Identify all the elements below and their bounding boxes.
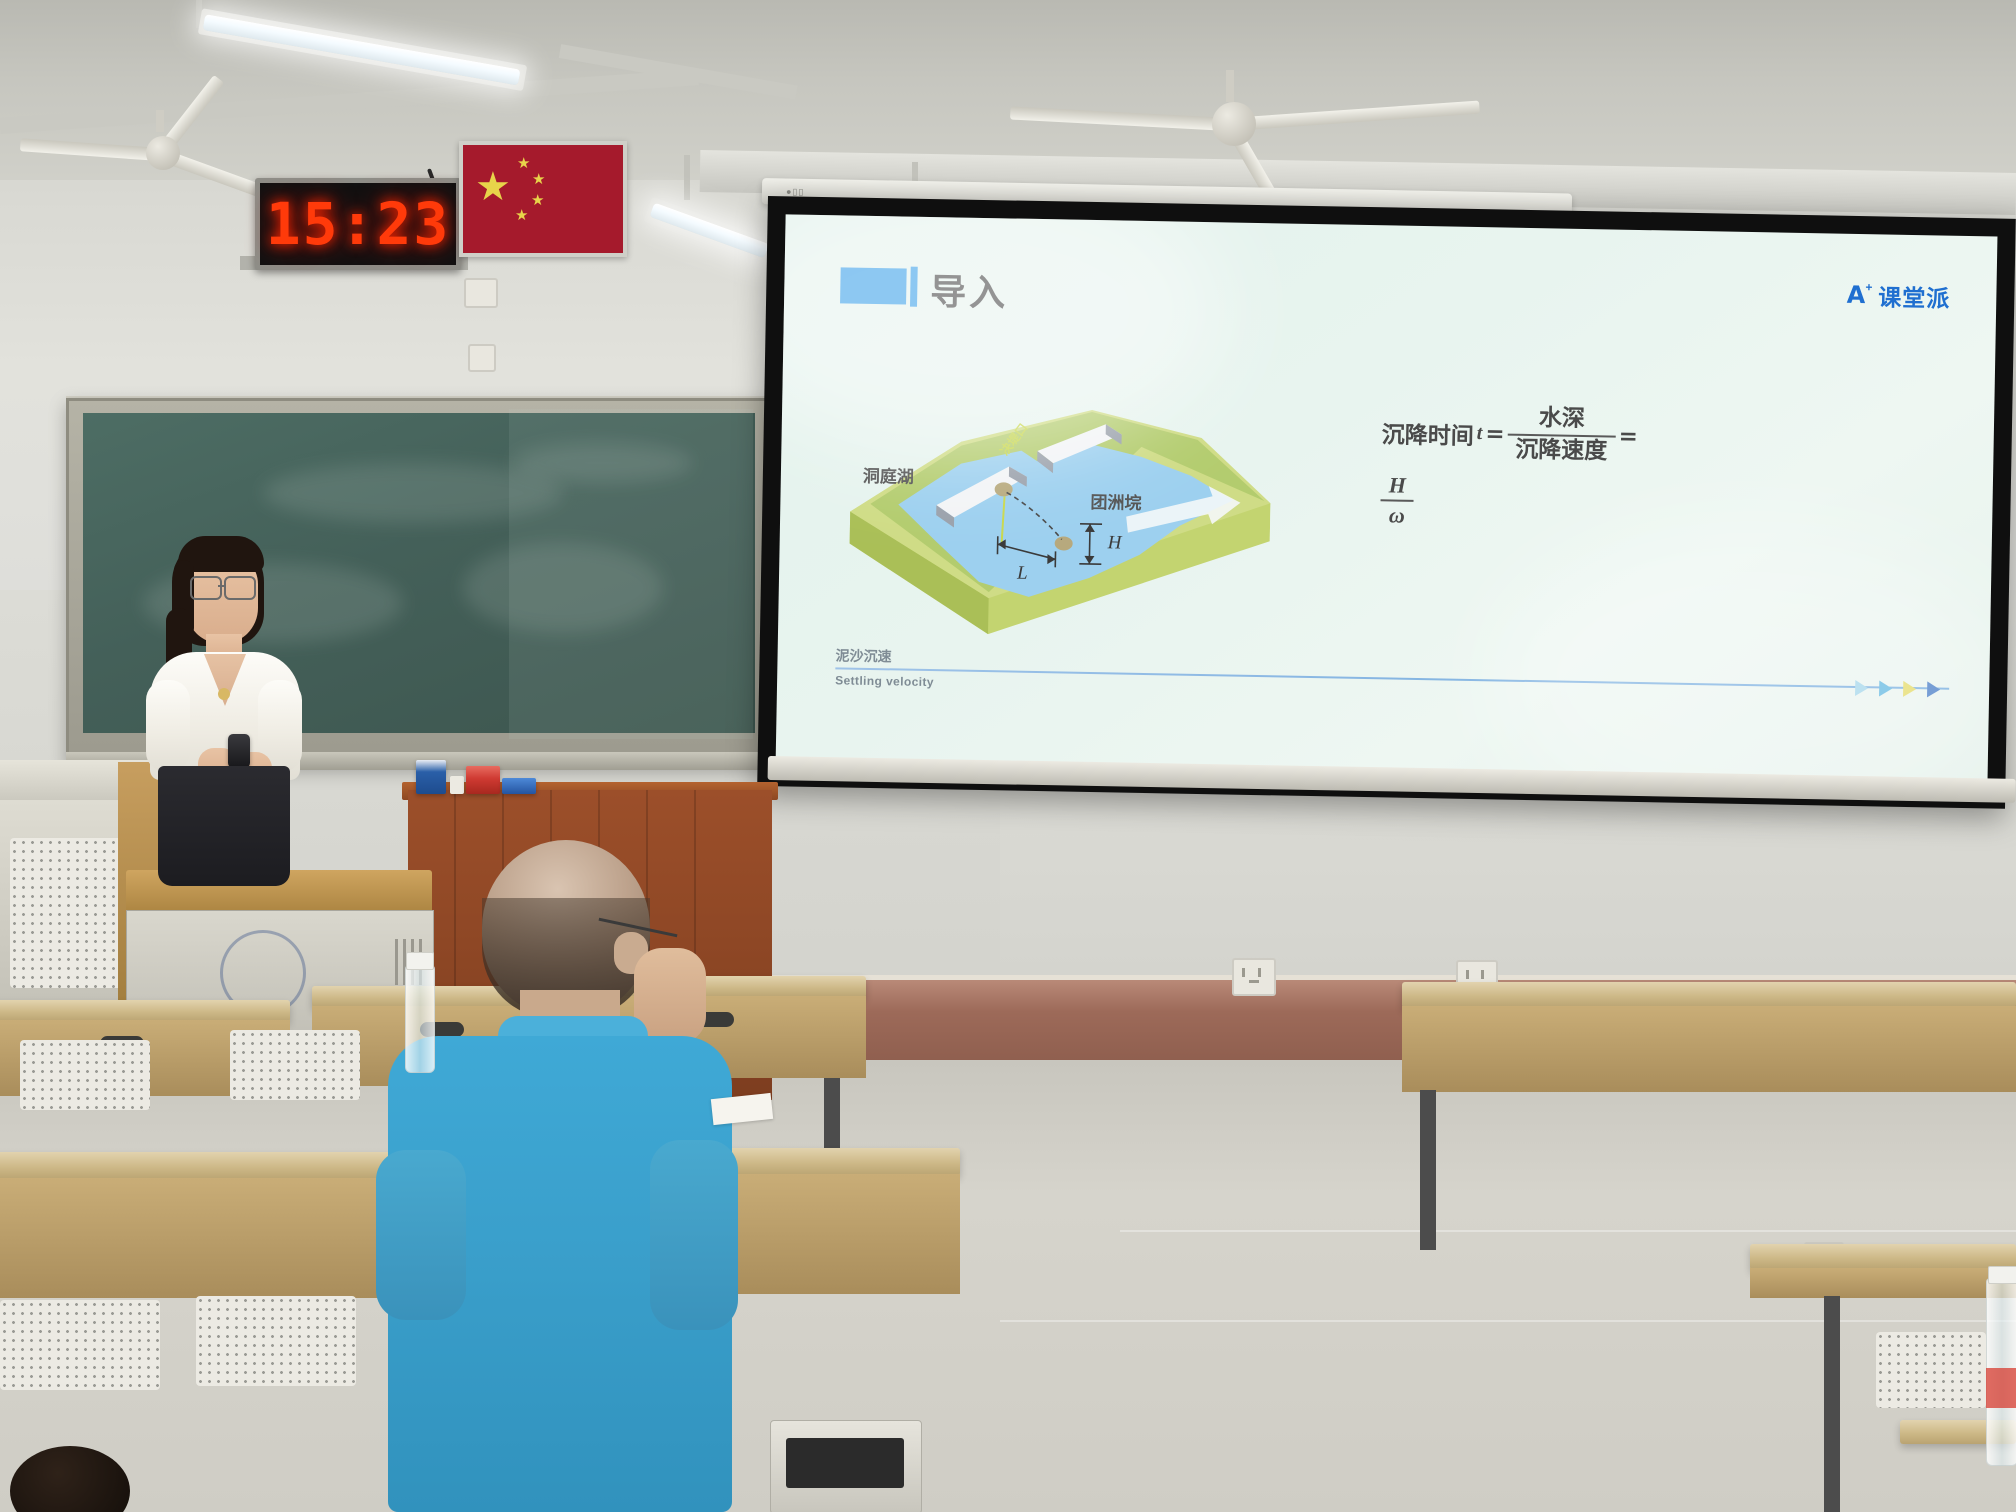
footer-chevron-2 <box>1879 680 1892 696</box>
slide-title-accent-bar <box>910 267 918 307</box>
desk-front-panel <box>1402 1006 2016 1092</box>
light-hanger <box>684 155 690 200</box>
bottle-cap[interactable] <box>1988 1266 2016 1284</box>
seated-attendee <box>370 840 730 1512</box>
fan-rod <box>1226 70 1234 102</box>
formula-fraction-symbols: H ω <box>1380 473 1414 529</box>
floor-tile-line <box>1120 1230 2016 1232</box>
presenter-remote[interactable] <box>228 734 250 768</box>
teacher-necklace-pendant <box>218 688 230 700</box>
chalk-box-red <box>466 766 500 794</box>
diagram-label-lake: 洞庭湖 <box>863 462 914 488</box>
diagram-svg <box>837 343 1273 671</box>
teacher-skirt <box>158 766 290 886</box>
dim-label-H: H <box>1107 532 1121 554</box>
flag-big-star: ★ <box>475 167 511 207</box>
floor-tile-line <box>1000 1320 2016 1322</box>
chair-backrest[interactable] <box>230 1030 360 1100</box>
kechangpai-logo: A + 课堂派 <box>1846 278 1950 314</box>
formula-t-symbol: t <box>1477 422 1483 445</box>
outlet-slot <box>1258 968 1261 977</box>
logo-text: 课堂派 <box>1878 278 1951 313</box>
desk-top <box>0 1152 430 1180</box>
chair-backrest[interactable] <box>196 1296 356 1386</box>
formula-fraction-words: 水深 沉降速度 <box>1507 406 1616 465</box>
chair-backrest[interactable] <box>20 1040 150 1110</box>
teacher-presenting <box>130 530 330 890</box>
teacher-sleeve-left <box>146 680 190 772</box>
power-outlet[interactable] <box>464 278 498 308</box>
clock-time: 15:23 <box>266 190 451 258</box>
chair-backrest[interactable] <box>1876 1332 1986 1408</box>
power-outlet[interactable] <box>1232 958 1276 996</box>
outlet-slot <box>1249 980 1259 983</box>
slide-title-accent-block <box>840 267 907 304</box>
dim-label-L: L <box>1017 563 1028 585</box>
flag-small-star: ★ <box>532 172 545 187</box>
chalk-box-blue-flat <box>502 778 536 794</box>
classroom-scene: 15:23 ★ ★ ★ ★ ★ ●▯▯ 导入 <box>0 0 2016 1512</box>
digital-clock: 15:23 <box>255 178 461 270</box>
outlet-slot <box>1242 968 1245 977</box>
settling-time-formula: 沉降时间 t = 水深 沉降速度 = H <box>1380 403 1852 536</box>
slide-footer-rule <box>835 667 1949 689</box>
formula-equals-2: = <box>1618 423 1638 449</box>
formula-fraction-bar-2 <box>1381 499 1414 502</box>
presentation-slide: 导入 A + 课堂派 <box>776 214 1998 788</box>
chalkboard-panel-seam <box>509 409 753 739</box>
chalk-box-white-small <box>450 776 464 794</box>
desk-front-panel <box>0 1178 430 1298</box>
slide-footer-en: Settling velocity <box>835 673 934 689</box>
flag-small-star: ★ <box>531 193 544 208</box>
diagram-label-polder: 团洲垸 <box>1090 488 1141 514</box>
chalk-box-blue <box>416 760 446 794</box>
fan-hub <box>146 136 180 170</box>
lake-breach-diagram: 洞庭湖 团洲垸 决堤口 L H <box>837 343 1273 671</box>
console-perforated-panel <box>10 838 130 988</box>
desk-top <box>0 1000 290 1022</box>
formula-denominator: 沉降速度 <box>1507 437 1615 465</box>
formula-lead-text: 沉降时间 <box>1381 415 1474 451</box>
desk-top <box>1750 1244 2016 1270</box>
flag-small-star: ★ <box>515 208 528 223</box>
desk-top <box>1402 982 2016 1008</box>
teacher-glasses-left-lens <box>190 576 222 600</box>
desk-leg <box>1824 1296 1840 1512</box>
bottle-brand-label <box>1986 1368 2016 1408</box>
desk-front-panel <box>1750 1268 2016 1298</box>
chair-backrest[interactable] <box>0 1300 160 1390</box>
wall-switch[interactable] <box>468 344 496 372</box>
outlet-slot <box>1466 970 1469 979</box>
attendee-sleeve <box>650 1140 738 1330</box>
formula-omega: ω <box>1381 503 1413 528</box>
attendee-sleeve <box>376 1150 466 1320</box>
footer-chevron-3 <box>1903 681 1916 697</box>
teacher-glasses-bridge <box>218 585 224 587</box>
teacher-glasses-right-lens <box>224 576 256 600</box>
formula-equals-1: = <box>1485 421 1505 447</box>
footer-chevron-4 <box>1927 681 1940 697</box>
formula-main-row: 沉降时间 t = 水深 沉降速度 = <box>1381 403 1852 469</box>
projector-screen: 导入 A + 课堂派 <box>757 196 2016 809</box>
flag-small-star: ★ <box>517 156 530 171</box>
logo-plus-icon: + <box>1865 280 1872 294</box>
logo-letter-a: A <box>1847 281 1866 309</box>
projected-slide-area: 导入 A + 课堂派 <box>776 214 1998 788</box>
formula-numerator: 水深 <box>1531 406 1593 433</box>
footer-chevron-1 <box>1855 680 1868 696</box>
bottle-cap[interactable] <box>406 952 434 970</box>
fan-rod <box>156 110 164 132</box>
slide-title: 导入 <box>930 263 1009 316</box>
formula-H: H <box>1381 473 1415 498</box>
fan-hub <box>1212 102 1256 146</box>
water-bottle[interactable] <box>405 965 435 1073</box>
outlet-slot <box>1481 970 1484 979</box>
desk-leg <box>1420 1090 1436 1250</box>
formula-symbolic-row: H ω <box>1380 473 1851 537</box>
slide-footer-cn: 泥沙沉速 <box>835 645 891 666</box>
av-equipment-screen <box>786 1438 904 1488</box>
china-national-flag: ★ ★ ★ ★ ★ <box>459 141 627 257</box>
